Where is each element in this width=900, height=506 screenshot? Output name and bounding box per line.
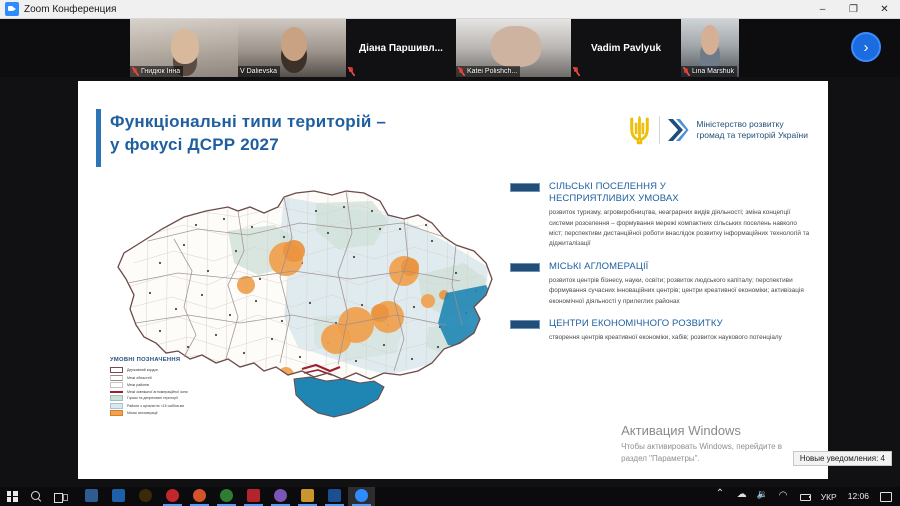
taskbar-app-viber[interactable] xyxy=(267,487,294,506)
maximize-button[interactable]: ❐ xyxy=(838,0,869,19)
taskbar-app-chrome[interactable] xyxy=(213,487,240,506)
functional-type-item: МІСЬКІ АГЛОМЕРАЦІЇ розвиток центрів бізн… xyxy=(510,261,812,307)
double-chevron-icon xyxy=(667,117,689,143)
taskbar-app-folder[interactable] xyxy=(294,487,321,506)
participant-tile[interactable]: V Dalievska xyxy=(238,19,346,77)
window-title: Zoom Конференция xyxy=(24,4,116,15)
functional-type-list: СІЛЬСЬКІ ПОСЕЛЕННЯ У НЕСПРИЯТЛИВИХ УМОВА… xyxy=(510,181,812,355)
shared-screen-slide: Функціональні типи територій – у фокусі … xyxy=(78,81,828,479)
slide-header: Функціональні типи територій – у фокусі … xyxy=(78,99,828,174)
activation-title: Активация Windows xyxy=(621,423,782,438)
firefox-icon xyxy=(193,489,206,502)
filmstrip-spacer-left xyxy=(0,19,130,77)
participant-name-bar: V Dalievska xyxy=(238,66,280,77)
next-page-button[interactable]: › xyxy=(851,32,881,62)
battery-icon xyxy=(800,491,811,502)
functional-type-title: СІЛЬСЬКІ ПОСЕЛЕННЯ У НЕСПРИЯТЛИВИХ УМОВА… xyxy=(549,181,679,205)
slide-title: Функціональні типи територій – у фокусі … xyxy=(110,111,386,157)
taskbar-app-calculator[interactable] xyxy=(105,487,132,506)
network-tray-button[interactable] xyxy=(774,487,795,506)
participant-tile[interactable]: Lina Marshuk xyxy=(681,19,739,77)
taskbar-app-firefox[interactable] xyxy=(186,487,213,506)
functional-type-body: створення центрів креативної економіки, … xyxy=(549,333,812,343)
volume-tray-button[interactable] xyxy=(753,487,774,506)
economic-centers-chip xyxy=(510,320,540,329)
legend-item: Міські агломерації xyxy=(110,410,225,416)
functional-type-heading: МІСЬКІ АГЛОМЕРАЦІЇ xyxy=(510,261,812,273)
opera-icon xyxy=(166,489,179,502)
participant-name: Lina Marshuk xyxy=(692,68,734,75)
window-title-bar: Zoom Конференция – ❐ ✕ xyxy=(0,0,900,19)
legend-item: Межі зовнішної агломераційної зони xyxy=(110,390,225,394)
orange-fill-swatch xyxy=(110,410,123,416)
agglomeration-line-swatch xyxy=(110,391,123,393)
ministry-logo: Міністерство розвитку громад та територі… xyxy=(627,115,808,145)
viber-icon xyxy=(274,489,287,502)
onedrive-tray-button[interactable] xyxy=(732,487,753,506)
task-view-button[interactable] xyxy=(48,487,72,506)
participant-filmstrip: Гнидюк Інна V Dalievska Діана Паршивл...… xyxy=(0,19,900,77)
taskbar-clock[interactable]: 12:06 xyxy=(842,492,875,501)
participant-name: V Dalievska xyxy=(240,68,277,75)
windows-start-icon xyxy=(7,491,18,502)
show-hidden-icons-icon xyxy=(716,491,727,502)
participant-tile[interactable]: Гнидюк Інна xyxy=(130,19,238,77)
show-hidden-icons-button[interactable] xyxy=(711,487,732,506)
mic-muted-icon xyxy=(348,67,355,76)
green-fill-swatch xyxy=(110,395,123,401)
zoom-meeting-window: Гнидюк Інна V Dalievska Діана Паршивл...… xyxy=(0,19,900,487)
volume-icon xyxy=(758,491,769,502)
functional-type-body: розвиток туризму, агровиробництва, неагр… xyxy=(549,208,812,250)
participant-name: Гнидюк Інна xyxy=(141,68,180,75)
legend-item: Гірські та депресивні території xyxy=(110,395,225,401)
participant-name: Діана Паршивл... xyxy=(359,43,443,54)
legend-label: Міські агломерації xyxy=(127,411,158,415)
onedrive-icon xyxy=(737,491,748,502)
taskbar-app-opera[interactable] xyxy=(159,487,186,506)
legend-label: Райони з щільністю <15 осіб/кв.км xyxy=(127,404,184,408)
map-legend: УМОВНІ ПОЗНАЧЕННЯ Державний кордон Межі … xyxy=(110,357,225,418)
functional-type-heading: ЦЕНТРИ ЕКОНОМІЧНОГО РОЗВИТКУ xyxy=(510,318,812,330)
participant-name: Kateі Polishch... xyxy=(467,68,517,75)
chevron-right-icon: › xyxy=(864,40,869,55)
network-icon xyxy=(779,491,790,502)
participant-tile[interactable]: Vadim Pavlyuk xyxy=(571,19,681,77)
taskbar-app-zoom[interactable] xyxy=(348,487,375,506)
legend-item: Межі районів xyxy=(110,382,225,388)
participant-name-bar: Kateі Polishch... xyxy=(456,66,520,77)
calculator-icon xyxy=(112,489,125,502)
legend-label: Межі зовнішної агломераційної зони xyxy=(127,390,188,394)
participant-tile[interactable]: Kateі Polishch... xyxy=(456,19,571,77)
participant-name: Vadim Pavlyuk xyxy=(591,43,661,54)
legend-label: Межі районів xyxy=(127,383,149,387)
legend-title: УМОВНІ ПОЗНАЧЕННЯ xyxy=(110,357,225,363)
windows-taskbar: УКР 12:06 xyxy=(0,487,900,506)
minimize-button[interactable]: – xyxy=(807,0,838,19)
functional-type-item: ЦЕНТРИ ЕКОНОМІЧНОГО РОЗВИТКУ створення ц… xyxy=(510,318,812,344)
urban-agglomerations-chip xyxy=(510,263,540,272)
ukraine-map: УМОВНІ ПОЗНАЧЕННЯ Державний кордон Межі … xyxy=(88,167,508,467)
action-center-button[interactable] xyxy=(875,487,896,506)
action-center-icon xyxy=(880,491,891,502)
taskbar-app-word[interactable] xyxy=(321,487,348,506)
search-button[interactable] xyxy=(24,487,48,506)
functional-type-body: розвиток центрів бізнесу, науки, освіти;… xyxy=(549,276,812,307)
functional-type-item: СІЛЬСЬКІ ПОСЕЛЕННЯ У НЕСПРИЯТЛИВИХ УМОВА… xyxy=(510,181,812,250)
mic-muted-icon xyxy=(683,68,690,76)
legend-item: Межі областей xyxy=(110,375,225,381)
search-icon xyxy=(31,491,42,502)
activation-subtitle: Чтобы активировать Windows, перейдите в … xyxy=(621,441,782,465)
language-indicator[interactable]: УКР xyxy=(816,487,842,506)
legend-item: Райони з щільністю <15 осіб/кв.км xyxy=(110,403,225,409)
windows-activation-watermark: Активация Windows Чтобы активировать Win… xyxy=(621,423,782,465)
start-button[interactable] xyxy=(0,487,24,506)
ukraine-trident-icon xyxy=(627,115,652,145)
zoom-icon xyxy=(355,489,368,502)
blue-fill-swatch xyxy=(110,403,123,409)
participant-tile[interactable]: Діана Паршивл... xyxy=(346,19,456,77)
word-icon xyxy=(328,489,341,502)
battery-tray-button[interactable] xyxy=(795,487,816,506)
pdf-reader-icon xyxy=(247,489,260,502)
state-border-swatch xyxy=(110,367,123,373)
file-explorer-icon xyxy=(85,489,98,502)
participant-name-bar: Гнидюк Інна xyxy=(130,66,183,77)
photoshop-icon xyxy=(139,489,152,502)
window-controls: – ❐ ✕ xyxy=(807,0,900,18)
title-accent-bar xyxy=(96,109,101,167)
taskbar-left xyxy=(0,487,375,506)
zoom-icon xyxy=(5,2,19,16)
system-tray: УКР 12:06 xyxy=(711,487,900,506)
mic-muted-icon xyxy=(458,68,465,76)
close-button[interactable]: ✕ xyxy=(869,0,900,19)
legend-label: Державний кордон xyxy=(127,368,158,372)
functional-type-title: МІСЬКІ АГЛОМЕРАЦІЇ xyxy=(549,261,648,273)
legend-label: Гірські та депресивні території xyxy=(127,396,178,400)
chrome-icon xyxy=(220,489,233,502)
taskbar-app-pdf-reader[interactable] xyxy=(240,487,267,506)
legend-item: Державний кордон xyxy=(110,367,225,373)
functional-type-heading: СІЛЬСЬКІ ПОСЕЛЕННЯ У НЕСПРИЯТЛИВИХ УМОВА… xyxy=(510,181,812,205)
folder-icon xyxy=(301,489,314,502)
mic-muted-icon xyxy=(573,67,580,76)
mic-muted-icon xyxy=(132,68,139,76)
task-view-icon xyxy=(54,492,66,502)
rural-settlements-chip xyxy=(510,183,540,192)
notification-toast[interactable]: Новые уведомления: 4 xyxy=(793,451,892,466)
ukraine-map-svg xyxy=(88,167,508,467)
ministry-logo-text: Міністерство розвитку громад та територі… xyxy=(696,119,808,142)
legend-label: Межі областей xyxy=(127,376,152,380)
rayon-border-swatch xyxy=(110,382,123,388)
taskbar-app-photoshop[interactable] xyxy=(132,487,159,506)
participant-name-bar: Lina Marshuk xyxy=(681,66,737,77)
oblast-border-swatch xyxy=(110,375,123,381)
functional-type-title: ЦЕНТРИ ЕКОНОМІЧНОГО РОЗВИТКУ xyxy=(549,318,723,330)
taskbar-app-file-explorer[interactable] xyxy=(78,487,105,506)
logo-divider xyxy=(659,116,660,144)
